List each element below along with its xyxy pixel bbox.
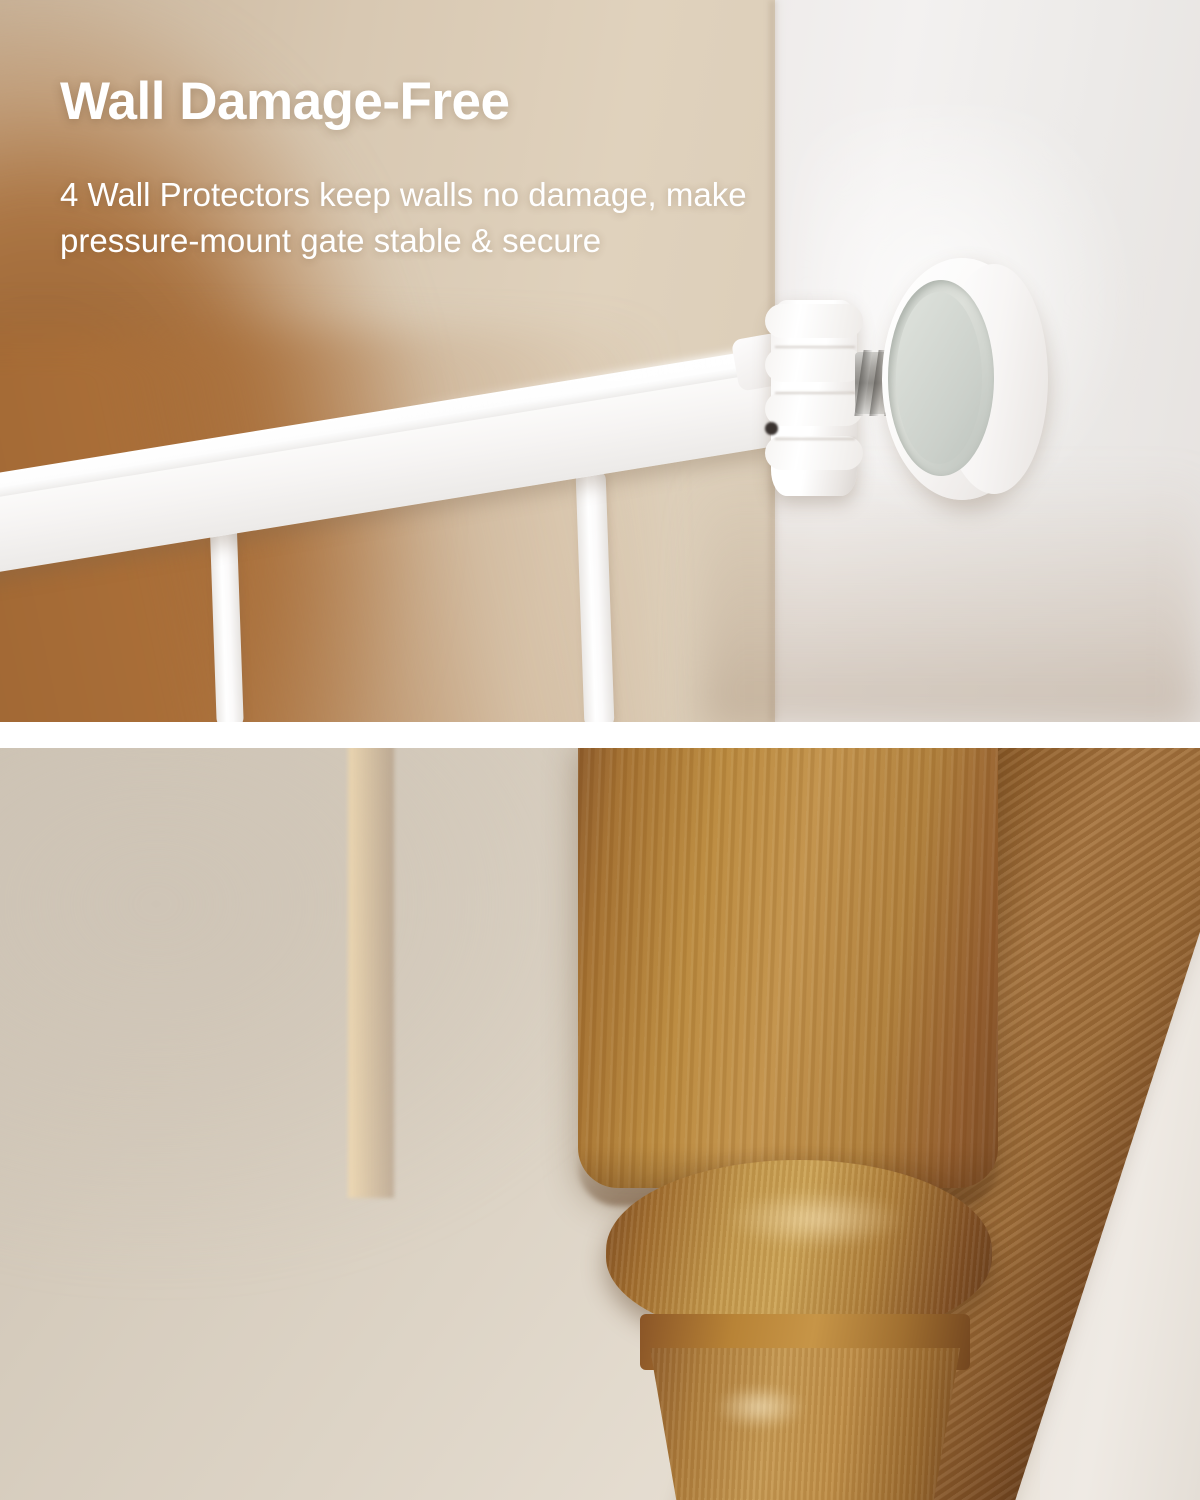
knob-lobe bbox=[765, 392, 863, 426]
knob-lobe bbox=[765, 436, 863, 470]
wall-protector-pad-inner bbox=[896, 292, 982, 464]
newel-post-edge-highlight bbox=[348, 748, 394, 1198]
product-feature-sheet: Wall Damage-Free 4 Wall Protectors keep … bbox=[0, 0, 1200, 1500]
newel-post-taper bbox=[640, 1348, 970, 1500]
top-panel-body: 4 Wall Protectors keep walls no damage, … bbox=[60, 172, 780, 263]
newel-post-taper-grain bbox=[640, 1348, 970, 1500]
turned-ball-wood-grain bbox=[606, 1160, 992, 1340]
panel-divider bbox=[0, 722, 1200, 748]
knob-lobe bbox=[765, 348, 863, 382]
newel-post-wood-grain bbox=[578, 748, 998, 1188]
newel-post-column bbox=[578, 748, 998, 1188]
knob-groove bbox=[775, 438, 855, 440]
panel-wall-damage-free: Wall Damage-Free 4 Wall Protectors keep … bbox=[0, 0, 1200, 722]
knob-groove bbox=[775, 392, 855, 394]
turned-ball-highlight bbox=[726, 1190, 906, 1248]
top-panel-title: Wall Damage-Free bbox=[60, 74, 510, 130]
knob-pivot-dot bbox=[765, 422, 778, 435]
knurled-knob bbox=[771, 300, 857, 496]
panel-versatile-y-shape-design: Versatile Y Shape Design 2 Free Y-spindl… bbox=[0, 748, 1200, 1500]
bottom-wall-highlight bbox=[0, 748, 660, 1268]
knob-groove bbox=[775, 346, 855, 348]
wall-protector-cup bbox=[882, 258, 1042, 500]
newel-post-taper-highlight bbox=[714, 1384, 806, 1430]
newel-post-turned-ball bbox=[606, 1160, 992, 1340]
knob-lobe bbox=[765, 304, 863, 338]
